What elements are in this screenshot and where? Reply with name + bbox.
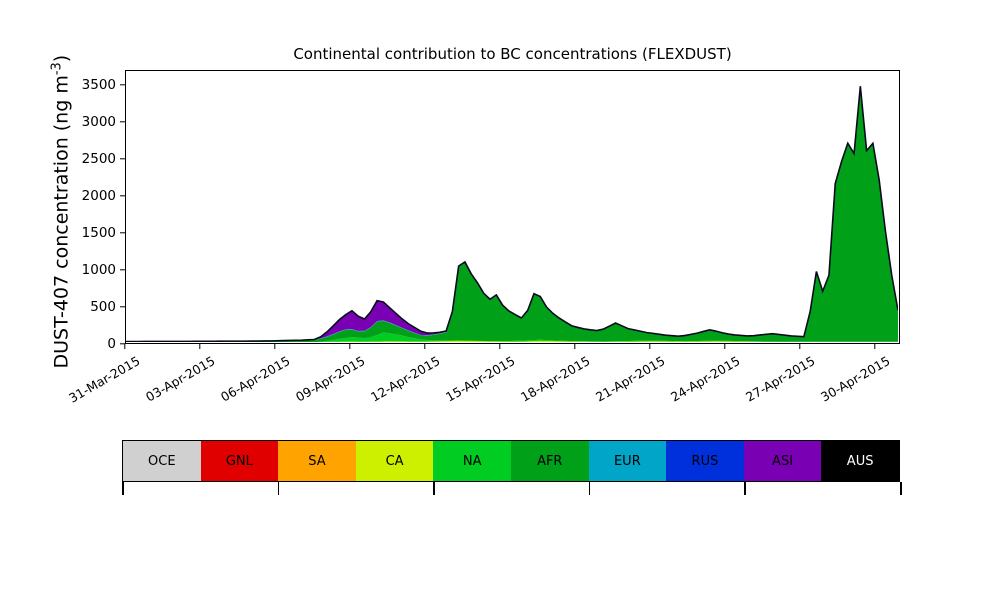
legend-label-gnl: GNL	[226, 454, 253, 469]
y-tick-label: 2500	[66, 151, 116, 167]
colorbar-tick-mark	[589, 482, 591, 495]
legend-label-sa: SA	[308, 454, 325, 469]
legend-label-eur: EUR	[614, 454, 641, 469]
y-axis-label: DUST-407 concentration (ng m-3)	[49, 47, 72, 377]
legend-swatch-aus[interactable]: AUS	[821, 441, 899, 481]
area-band-eur	[126, 87, 898, 342]
legend-swatch-eur[interactable]: EUR	[589, 441, 667, 481]
y-tick-mark	[120, 121, 125, 122]
x-tick-label: 24-Apr-2015	[668, 353, 742, 405]
area-band-afr	[126, 87, 898, 342]
y-tick-label: 1500	[66, 225, 116, 241]
x-tick-label: 31-Mar-2015	[66, 353, 142, 406]
x-tick-label: 15-Apr-2015	[443, 353, 517, 405]
x-tick-mark	[199, 344, 200, 349]
y-tick-label: 3000	[66, 114, 116, 130]
total-outline	[126, 86, 898, 341]
legend-swatch-sa[interactable]: SA	[278, 441, 356, 481]
continent-colorbar-legend[interactable]: OCEGNLSACANAAFREURRUSASIAUS	[122, 440, 900, 482]
page-title: Continental contribution to BC concentra…	[125, 45, 900, 63]
area-band-asi	[126, 86, 898, 341]
colorbar-tick-mark	[900, 482, 902, 495]
x-tick-label: 09-Apr-2015	[293, 353, 367, 405]
legend-label-aus: AUS	[847, 454, 874, 469]
colorbar-ticks	[122, 482, 900, 496]
stacked-area-series	[126, 71, 898, 342]
y-tick-mark	[120, 158, 125, 159]
y-tick-mark	[120, 306, 125, 307]
y-tick-label: 500	[66, 299, 116, 315]
legend-label-afr: AFR	[537, 454, 562, 469]
x-tick-label: 06-Apr-2015	[218, 353, 292, 405]
x-tick-label: 21-Apr-2015	[593, 353, 667, 405]
colorbar-tick-mark	[122, 482, 124, 495]
x-tick-mark	[574, 344, 575, 349]
x-tick-label: 30-Apr-2015	[818, 353, 892, 405]
colorbar-tick-mark	[744, 482, 746, 495]
legend-swatch-ca[interactable]: CA	[356, 441, 434, 481]
x-tick-mark	[349, 344, 350, 349]
y-axis-label-tail: )	[51, 55, 73, 62]
legend-label-oce: OCE	[148, 454, 176, 469]
legend-swatch-rus[interactable]: RUS	[666, 441, 744, 481]
plot-area	[125, 70, 900, 344]
legend-swatch-gnl[interactable]: GNL	[201, 441, 279, 481]
x-tick-mark	[424, 344, 425, 349]
legend-swatch-afr[interactable]: AFR	[511, 441, 589, 481]
x-tick-mark	[724, 344, 725, 349]
x-tick-mark	[799, 344, 800, 349]
x-tick-mark	[274, 344, 275, 349]
y-tick-label: 2000	[66, 188, 116, 204]
y-tick-label: 1000	[66, 262, 116, 278]
y-axis-label-exponent: -3	[49, 62, 64, 75]
y-tick-mark	[120, 232, 125, 233]
legend-swatch-asi[interactable]: ASI	[744, 441, 822, 481]
x-tick-mark	[499, 344, 500, 349]
x-tick-mark	[124, 344, 125, 349]
x-tick-label: 12-Apr-2015	[368, 353, 442, 405]
x-tick-mark	[874, 344, 875, 349]
figure-canvas: Continental contribution to BC concentra…	[0, 0, 1000, 600]
y-tick-label: 0	[66, 336, 116, 352]
x-tick-label: 03-Apr-2015	[143, 353, 217, 405]
y-tick-label: 3500	[66, 77, 116, 93]
x-tick-label: 27-Apr-2015	[743, 353, 817, 405]
colorbar-tick-mark	[433, 482, 435, 495]
y-tick-mark	[120, 195, 125, 196]
area-band-aus	[126, 86, 898, 341]
x-tick-label: 18-Apr-2015	[518, 353, 592, 405]
y-tick-mark	[120, 269, 125, 270]
legend-swatch-oce[interactable]: OCE	[123, 441, 201, 481]
colorbar-tick-mark	[278, 482, 280, 495]
legend-label-na: NA	[463, 454, 482, 469]
area-band-rus	[126, 86, 898, 341]
legend-label-rus: RUS	[692, 454, 719, 469]
legend-swatch-na[interactable]: NA	[433, 441, 511, 481]
y-tick-mark	[120, 84, 125, 85]
legend-label-asi: ASI	[772, 454, 793, 469]
legend-label-ca: CA	[386, 454, 404, 469]
x-tick-mark	[649, 344, 650, 349]
